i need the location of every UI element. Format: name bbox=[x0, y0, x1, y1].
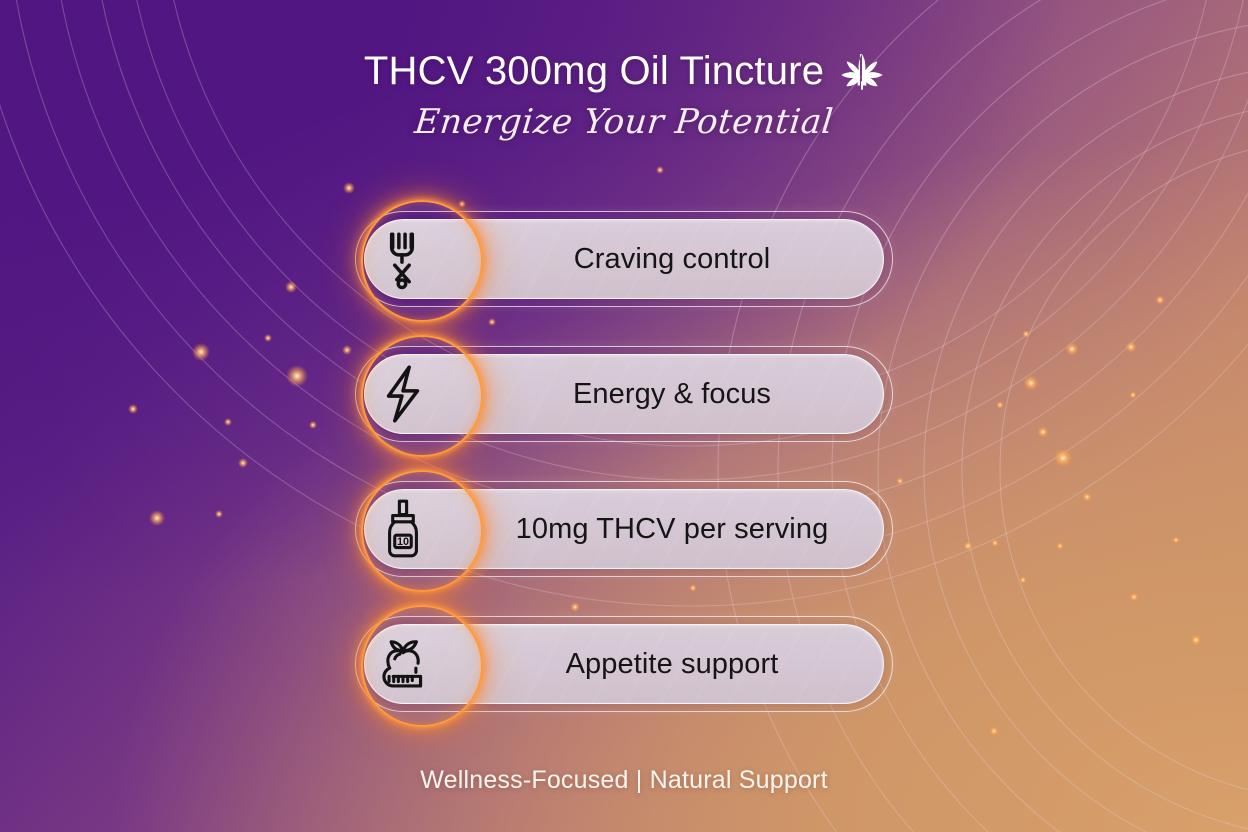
promo-canvas: THCV 300mg Oil Tincture Energize Your Po… bbox=[0, 0, 1248, 832]
footer-tagline: Wellness-Focused | Natural Support bbox=[0, 766, 1248, 795]
pill-body: 10mg THCV per serving bbox=[364, 489, 884, 569]
cannabis-leaf-icon bbox=[840, 50, 884, 94]
pill-body: Appetite support bbox=[364, 624, 884, 704]
benefit-label: 10mg THCV per serving bbox=[365, 513, 883, 546]
pill-body: Craving control bbox=[364, 219, 884, 299]
title-row: THCV 300mg Oil Tincture bbox=[0, 48, 1248, 94]
benefit-label: Craving control bbox=[365, 243, 883, 276]
pill-body: Energy & focus bbox=[364, 354, 884, 434]
benefit-label: Energy & focus bbox=[365, 378, 883, 411]
benefit-row-energy-focus[interactable]: Energy & focus bbox=[355, 346, 893, 442]
page-subtitle: Energize Your Potential bbox=[0, 102, 1248, 142]
benefit-row-thcv-dose[interactable]: 10mg THCV per serving 10 bbox=[355, 481, 893, 577]
bottle-dose-text: 10 bbox=[397, 536, 409, 548]
dropper-bottle-icon: 10 bbox=[370, 496, 436, 562]
apple-tape-measure-icon bbox=[370, 631, 436, 697]
lightning-bolt-icon bbox=[370, 361, 436, 427]
fork-cut-icon bbox=[370, 226, 436, 292]
benefit-label: Appetite support bbox=[365, 648, 883, 681]
benefits-list: Craving control Energy & focus bbox=[355, 211, 893, 712]
page-title: THCV 300mg Oil Tincture bbox=[364, 49, 824, 93]
benefit-row-craving-control[interactable]: Craving control bbox=[355, 211, 893, 307]
benefit-row-appetite-support[interactable]: Appetite support bbox=[355, 616, 893, 712]
header: THCV 300mg Oil Tincture Energize Your Po… bbox=[0, 48, 1248, 142]
